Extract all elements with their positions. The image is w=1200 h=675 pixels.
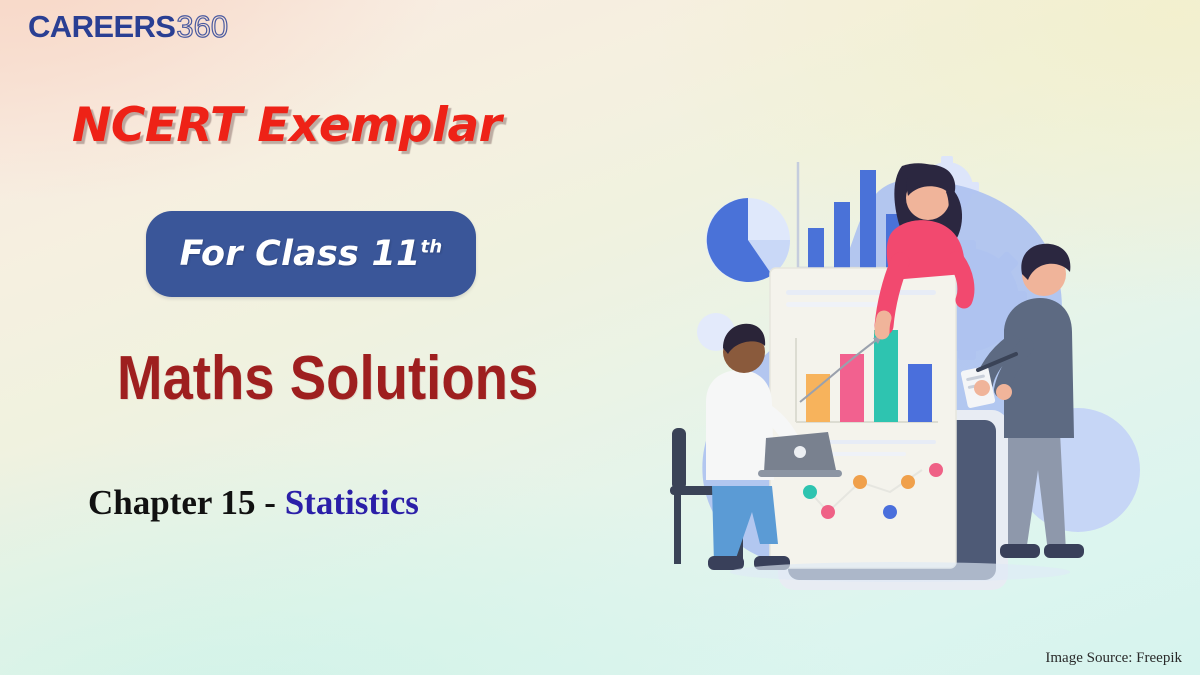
careers360-logo[interactable]: CAREERS 360 bbox=[28, 9, 228, 45]
board-bar-blue bbox=[908, 364, 932, 422]
board-bar-pink bbox=[840, 354, 864, 422]
scatter-dot-teal bbox=[803, 485, 817, 499]
chapter-line: Chapter 15 - Statistics bbox=[88, 485, 419, 520]
logo-secondary-text: 360 bbox=[176, 9, 228, 45]
top-bar-2 bbox=[834, 202, 850, 268]
scatter-dot-blue bbox=[883, 505, 897, 519]
subject-title: Maths Solutions bbox=[117, 348, 538, 410]
scatter-dot-orange-1 bbox=[853, 475, 867, 489]
floor-shadow bbox=[730, 562, 1070, 582]
top-bar-1 bbox=[808, 228, 824, 268]
class-badge-label: For Class 11th bbox=[180, 234, 443, 274]
illustration bbox=[660, 140, 1160, 610]
page-title: NCERT Exemplar bbox=[72, 102, 501, 149]
title-block: NCERT Exemplar For Class 11th Maths Solu… bbox=[0, 0, 640, 675]
chapter-prefix: Chapter 15 - bbox=[88, 483, 285, 522]
analytics-board bbox=[770, 268, 956, 568]
scatter-dot-orange-2 bbox=[901, 475, 915, 489]
top-bar-3 bbox=[860, 170, 876, 268]
scatter-dot-pink-1 bbox=[821, 505, 835, 519]
image-credit: Image Source: Freepik bbox=[1045, 650, 1182, 667]
class-badge: For Class 11th bbox=[146, 211, 476, 297]
chapter-topic: Statistics bbox=[285, 483, 419, 522]
logo-primary-text: CAREERS bbox=[28, 9, 175, 45]
class-badge-prefix: For Class 11 bbox=[180, 234, 421, 274]
board-bar-teal bbox=[874, 330, 898, 422]
class-badge-suffix: th bbox=[421, 236, 443, 257]
scatter-dot-pink-2 bbox=[929, 463, 943, 477]
